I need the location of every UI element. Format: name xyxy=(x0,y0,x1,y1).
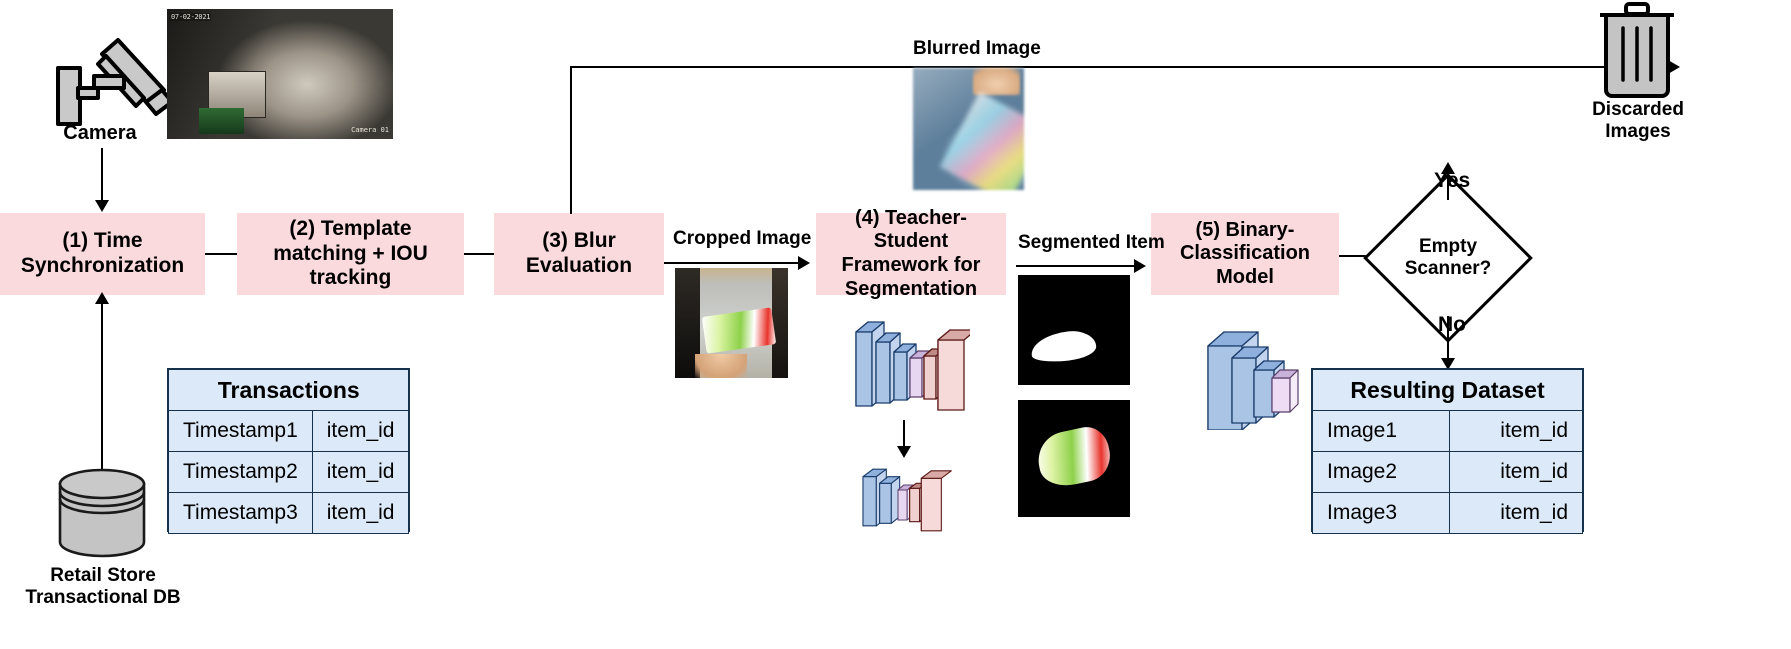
classifier-network-icon xyxy=(1198,300,1308,430)
cell-item-id: item_id xyxy=(1449,493,1582,534)
cell-image: Image1 xyxy=(1313,411,1450,452)
edge-label-no: No xyxy=(1438,313,1466,337)
camera-to-timesync-line xyxy=(101,148,103,204)
blur-branch-vertical-line xyxy=(570,66,572,214)
table-header-row: Resulting Dataset xyxy=(1313,370,1583,411)
cctv-timestamp: 07-02-2021 xyxy=(170,13,211,21)
blurred-frame-photo xyxy=(913,68,1024,190)
edge-label-yes: Yes xyxy=(1434,169,1470,193)
stage3-to-stage4-arrowhead xyxy=(798,256,810,270)
db-to-timesync-line xyxy=(101,400,103,472)
stage-binary-classification[interactable]: (5) Binary-Classification Model xyxy=(1151,213,1339,295)
cell-item-id: item_id xyxy=(1449,452,1582,493)
trash-bin-icon xyxy=(1592,2,1682,100)
cell-item-id: item_id xyxy=(312,452,409,493)
table-row: Image2 item_id xyxy=(1313,452,1583,493)
cell-timestamp: Timestamp1 xyxy=(169,411,313,452)
resulting-dataset-table: Resulting Dataset Image1 item_id Image2 … xyxy=(1311,368,1584,532)
cell-image: Image2 xyxy=(1313,452,1450,493)
table-header-row: Transactions xyxy=(169,370,409,411)
cctv-camera-id: Camera 01 xyxy=(351,126,389,134)
decision-label: Empty Scanner? xyxy=(1388,198,1508,318)
blur-branch-horizontal-line xyxy=(570,66,1678,68)
student-network-icon xyxy=(858,455,958,535)
stage4-to-stage5-line xyxy=(1016,265,1142,267)
cell-image: Image3 xyxy=(1313,493,1450,534)
binary-mask-photo xyxy=(1018,275,1130,385)
edge-label-cropped-image: Cropped Image xyxy=(673,228,811,250)
database-cylinder-icon xyxy=(54,466,150,562)
teacher-network-icon xyxy=(850,300,970,420)
cell-timestamp: Timestamp2 xyxy=(169,452,313,493)
db-to-timesync-line-upper xyxy=(101,300,103,404)
camera-to-timesync-arrowhead xyxy=(95,200,109,212)
edge-label-blurred-image: Blurred Image xyxy=(913,38,1041,60)
cctv-frame-photo: 07-02-2021 Camera 01 xyxy=(167,9,393,139)
edge-label-segmented-item: Segmented Item xyxy=(1018,232,1165,254)
retail-db-label: Retail Store Transactional DB xyxy=(8,565,198,609)
resulting-dataset-header: Resulting Dataset xyxy=(1313,370,1583,411)
cell-item-id: item_id xyxy=(312,493,409,534)
stage-teacher-student[interactable]: (4) Teacher-Student Framework for Segmen… xyxy=(816,213,1006,295)
cell-item-id: item_id xyxy=(1449,411,1582,452)
discarded-images-label: Discarded Images xyxy=(1568,99,1708,143)
diagram-canvas: Camera 07-02-2021 Camera 01 (1) Time Syn… xyxy=(0,0,1791,649)
cell-timestamp: Timestamp3 xyxy=(169,493,313,534)
stage3-to-stage4-line xyxy=(664,262,804,264)
table-row: Image1 item_id xyxy=(1313,411,1583,452)
stage-template-matching[interactable]: (2) Template matching + IOU tracking xyxy=(237,213,464,295)
table-row: Timestamp3 item_id xyxy=(169,493,409,534)
table-row: Image3 item_id xyxy=(1313,493,1583,534)
transactions-header: Transactions xyxy=(169,370,409,411)
stage-time-sync[interactable]: (1) Time Synchronization xyxy=(0,213,205,295)
table-row: Timestamp2 item_id xyxy=(169,452,409,493)
table-row: Timestamp1 item_id xyxy=(169,411,409,452)
decision-empty-scanner[interactable]: Empty Scanner? xyxy=(1388,198,1508,318)
stage-blur-evaluation[interactable]: (3) Blur Evaluation xyxy=(494,213,664,295)
segmented-item-photo xyxy=(1018,400,1130,517)
cell-item-id: item_id xyxy=(312,411,409,452)
cropped-item-photo xyxy=(675,268,788,378)
transactions-table: Transactions Timestamp1 item_id Timestam… xyxy=(167,368,410,532)
camera-label: Camera xyxy=(30,122,170,145)
stage4-to-stage5-arrowhead xyxy=(1134,259,1146,273)
